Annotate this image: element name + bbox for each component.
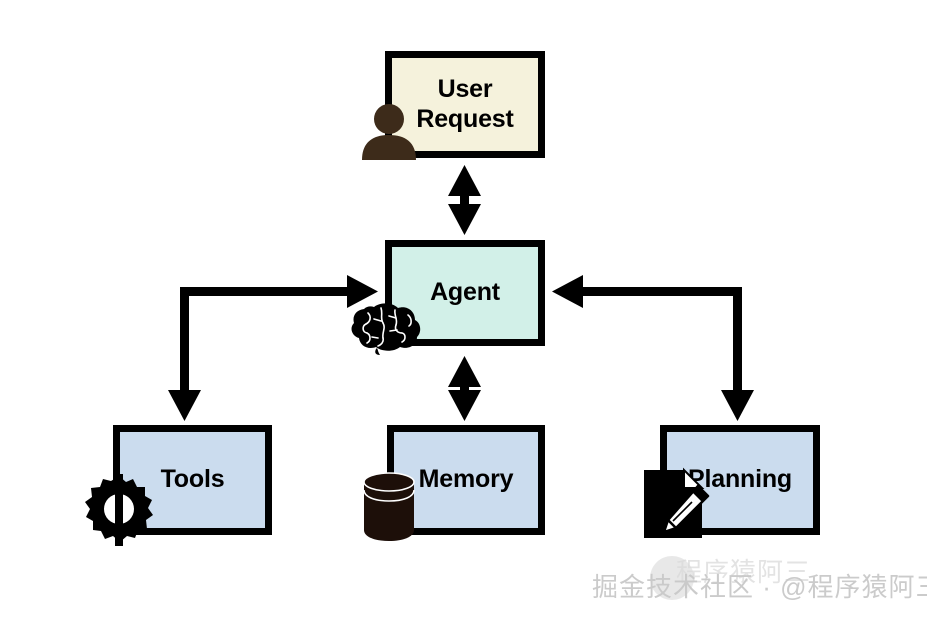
connector-agent-memory	[448, 356, 481, 421]
node-tools[interactable]: Tools	[113, 425, 272, 535]
diagram-canvas: User Request Agent Tools Memory Planning	[0, 0, 927, 618]
connector-planning-agent	[552, 275, 754, 421]
watermark-text: 掘金技术社区 · @程序猿阿三	[592, 564, 922, 606]
node-memory[interactable]: Memory	[387, 425, 545, 535]
node-tools-label: Tools	[161, 465, 225, 495]
node-memory-label: Memory	[419, 465, 514, 495]
node-agent-label: Agent	[430, 278, 500, 308]
node-planning-label: Planning	[688, 465, 792, 495]
node-user-request[interactable]: User Request	[385, 51, 545, 158]
connector-user-agent	[448, 165, 481, 235]
node-planning[interactable]: Planning	[660, 425, 820, 535]
node-agent[interactable]: Agent	[385, 240, 545, 346]
node-user-request-label: User Request	[416, 75, 513, 134]
connector-tools-agent	[168, 275, 378, 421]
